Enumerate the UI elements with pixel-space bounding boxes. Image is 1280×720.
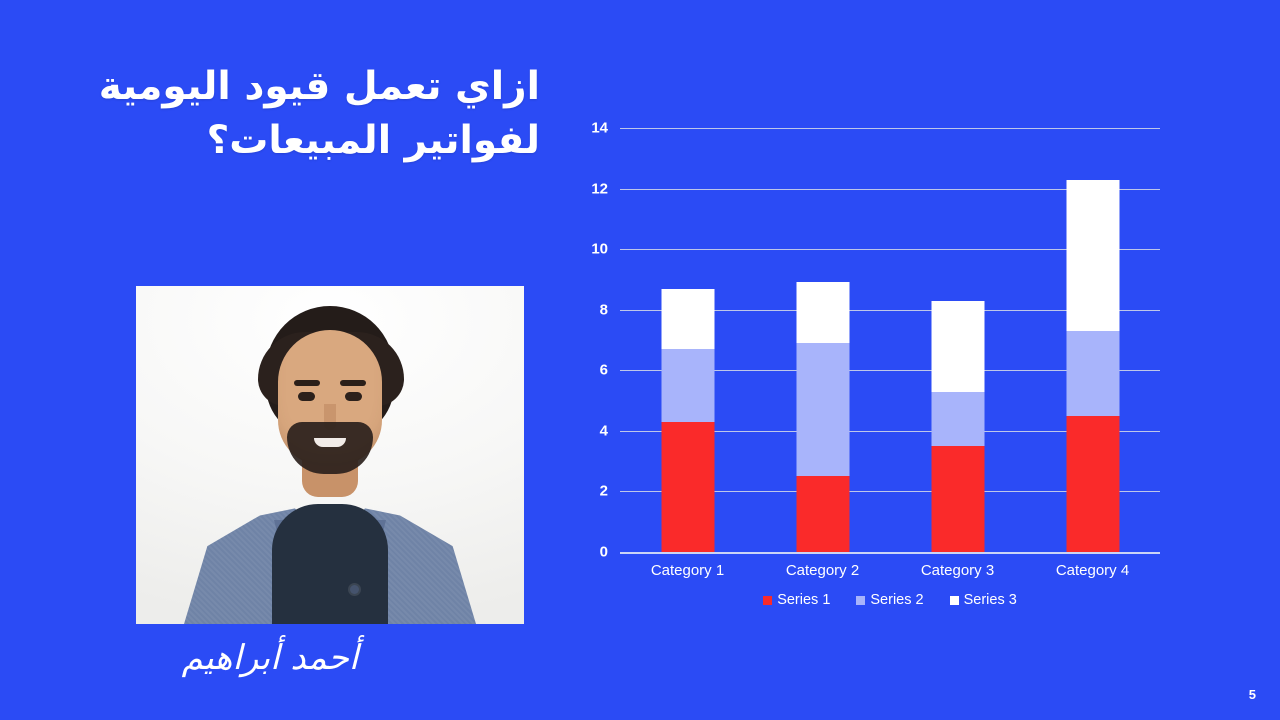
y-axis-tick-label: 14 bbox=[591, 120, 608, 137]
legend-item[interactable]: Series 3 bbox=[950, 592, 1017, 608]
portrait-face bbox=[278, 330, 382, 466]
bar-segment bbox=[1066, 331, 1119, 416]
bar-segment bbox=[661, 422, 714, 552]
bar-segment bbox=[796, 282, 849, 343]
chart-legend: Series 1Series 2Series 3 bbox=[620, 592, 1160, 608]
gridline bbox=[620, 552, 1160, 554]
portrait-eye-right bbox=[345, 392, 362, 401]
portrait-shirt bbox=[272, 504, 388, 624]
legend-label: Series 3 bbox=[964, 592, 1017, 608]
legend-item[interactable]: Series 1 bbox=[763, 592, 830, 608]
bar-stack bbox=[661, 289, 714, 552]
y-axis-tick-label: 12 bbox=[591, 180, 608, 197]
legend-label: Series 2 bbox=[870, 592, 923, 608]
portrait-photo bbox=[136, 286, 524, 624]
legend-label: Series 1 bbox=[777, 592, 830, 608]
bar-segment bbox=[796, 476, 849, 552]
bar-stack bbox=[796, 282, 849, 552]
y-axis-tick-label: 6 bbox=[600, 362, 608, 379]
bar-segment bbox=[931, 446, 984, 552]
bar-segment bbox=[1066, 180, 1119, 331]
gridline bbox=[620, 128, 1160, 129]
legend-swatch-icon bbox=[856, 596, 865, 605]
portrait-jacket-button bbox=[350, 585, 359, 594]
bar-stack bbox=[1066, 180, 1119, 553]
bar-segment bbox=[661, 349, 714, 422]
page-title: ازاي تعمل قيود اليومية لفواتير المبيعات؟ bbox=[60, 60, 540, 168]
bar-segment bbox=[796, 343, 849, 476]
x-axis-tick-label: Category 2 bbox=[786, 562, 859, 579]
legend-item[interactable]: Series 2 bbox=[856, 592, 923, 608]
portrait-eye-left bbox=[298, 392, 315, 401]
portrait-eyebrow-right bbox=[340, 380, 366, 386]
bar-segment bbox=[661, 289, 714, 350]
y-axis-tick-label: 2 bbox=[600, 483, 608, 500]
x-axis-tick-label: Category 3 bbox=[921, 562, 994, 579]
legend-swatch-icon bbox=[950, 596, 959, 605]
presentation-slide: ازاي تعمل قيود اليومية لفواتير المبيعات؟… bbox=[0, 0, 1280, 720]
bar-segment bbox=[1066, 416, 1119, 552]
bar-stack bbox=[931, 301, 984, 552]
y-axis-tick-label: 10 bbox=[591, 241, 608, 258]
portrait-eyebrow-left bbox=[294, 380, 320, 386]
portrait-mouth bbox=[314, 438, 346, 447]
y-axis-tick-label: 4 bbox=[600, 422, 608, 439]
presenter-name: أحمد أبراهيم bbox=[120, 640, 420, 677]
slide-number: 5 bbox=[1249, 687, 1256, 702]
x-axis-tick-label: Category 1 bbox=[651, 562, 724, 579]
stacked-bar-chart: 02468101214 Category 1Category 2Category… bbox=[560, 110, 1200, 620]
legend-swatch-icon bbox=[763, 596, 772, 605]
bar-segment bbox=[931, 392, 984, 447]
y-axis-tick-label: 8 bbox=[600, 301, 608, 318]
y-axis-tick-label: 0 bbox=[600, 544, 608, 561]
chart-plot-area: 02468101214 bbox=[620, 128, 1160, 552]
bar-segment bbox=[931, 301, 984, 392]
x-axis-tick-label: Category 4 bbox=[1056, 562, 1129, 579]
